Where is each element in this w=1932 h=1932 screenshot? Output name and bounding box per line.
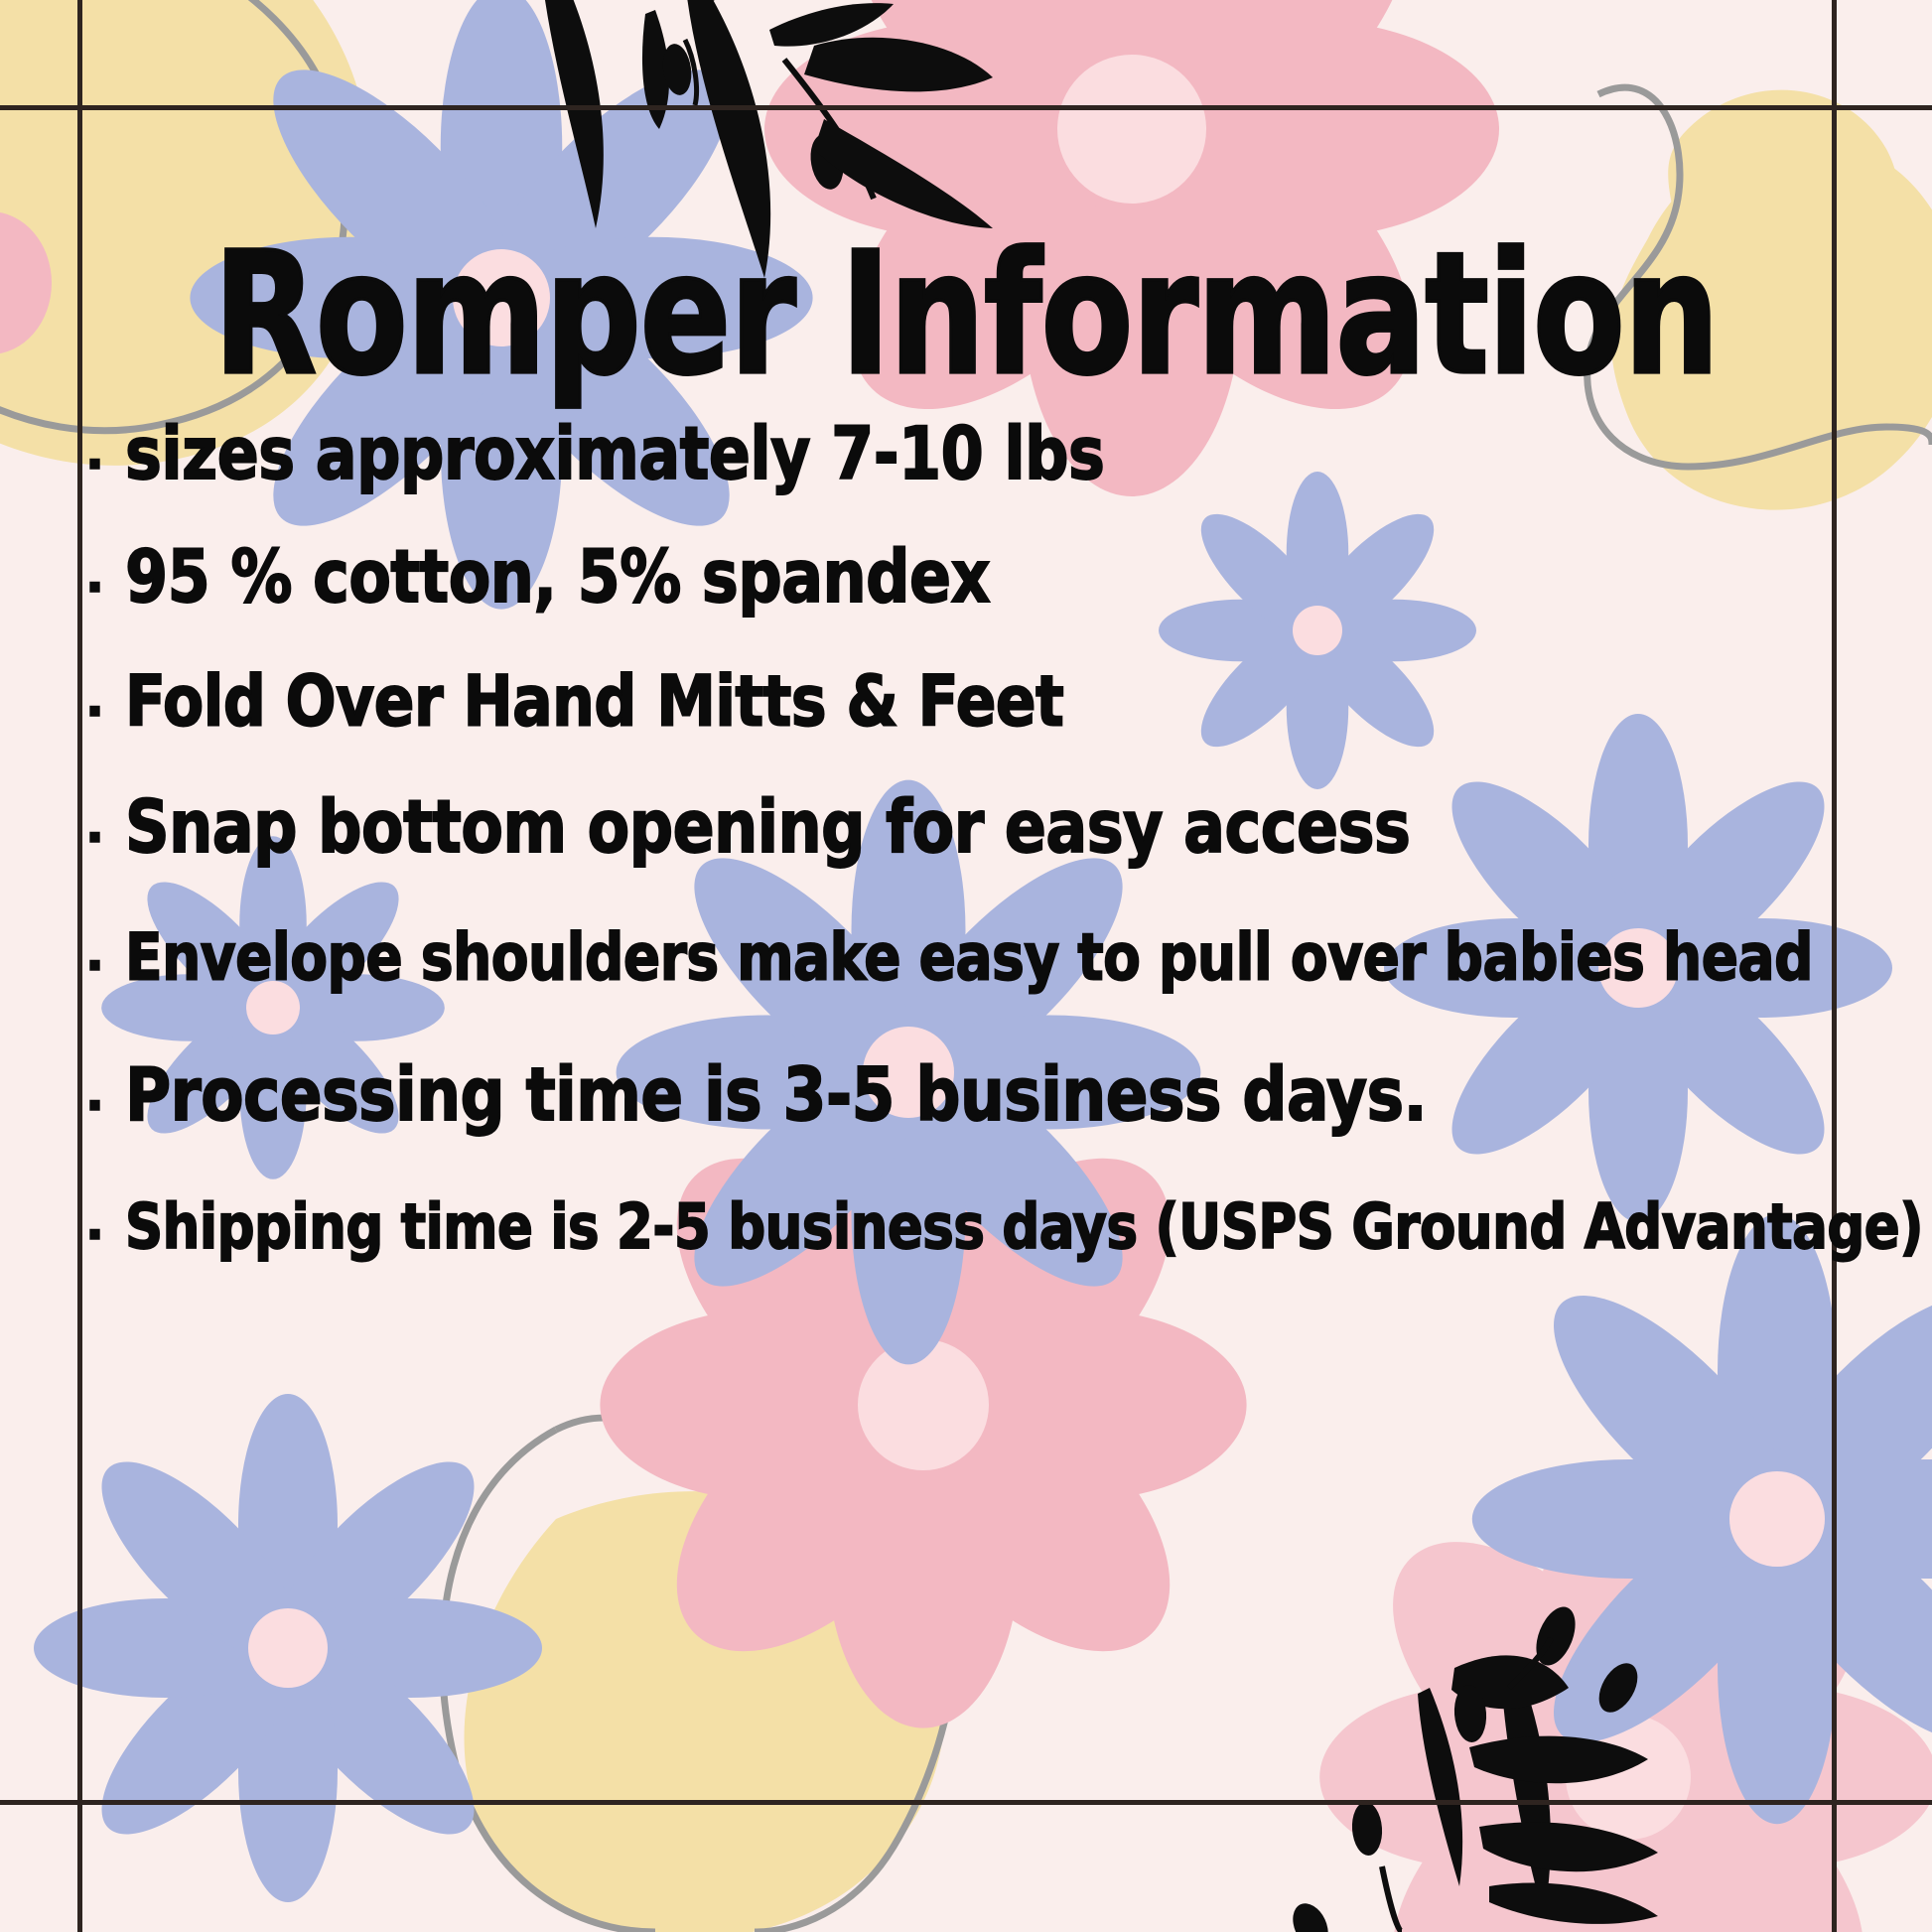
list-item: . Snap bottom opening for easy access — [85, 790, 1872, 925]
bullet-marker: . — [85, 796, 125, 854]
list-item: . Shipping time is 2-5 business days (US… — [85, 1197, 1872, 1316]
list-item: . sizes approximately 7-10 lbs — [85, 417, 1872, 540]
poster-canvas: Romper Information . sizes approximately… — [0, 0, 1932, 1932]
list-item-label: 95 % cotton, 5% spandex — [125, 533, 990, 619]
list-item: . 95 % cotton, 5% spandex — [85, 540, 1872, 667]
list-item: . Envelope shoulders make easy to pull o… — [85, 925, 1872, 1058]
list-item: . Fold Over Hand Mitts & Feet — [85, 667, 1872, 790]
poster-content: Romper Information . sizes approximately… — [0, 0, 1932, 1932]
bullet-marker: . — [85, 423, 125, 481]
bullet-marker: . — [85, 546, 125, 604]
list-item-label: Snap bottom opening for easy access — [125, 783, 1410, 869]
bullet-marker: . — [85, 1193, 125, 1251]
list-item-label: Processing time is 3-5 business days. — [125, 1051, 1427, 1137]
list-item-label: Envelope shoulders make easy to pull ove… — [125, 919, 1813, 995]
bullet-marker: . — [85, 670, 125, 728]
page-title: Romper Information — [29, 230, 1903, 399]
bullet-marker: . — [85, 924, 125, 982]
list-item: . Processing time is 3-5 business days. — [85, 1058, 1872, 1197]
list-item-label: Fold Over Hand Mitts & Feet — [125, 661, 1063, 744]
bullet-marker: . — [85, 1064, 125, 1122]
list-item-label: sizes approximately 7-10 lbs — [125, 410, 1104, 495]
info-list: . sizes approximately 7-10 lbs . 95 % co… — [85, 417, 1872, 1316]
list-item-label: Shipping time is 2-5 business days (USPS… — [125, 1192, 1923, 1264]
